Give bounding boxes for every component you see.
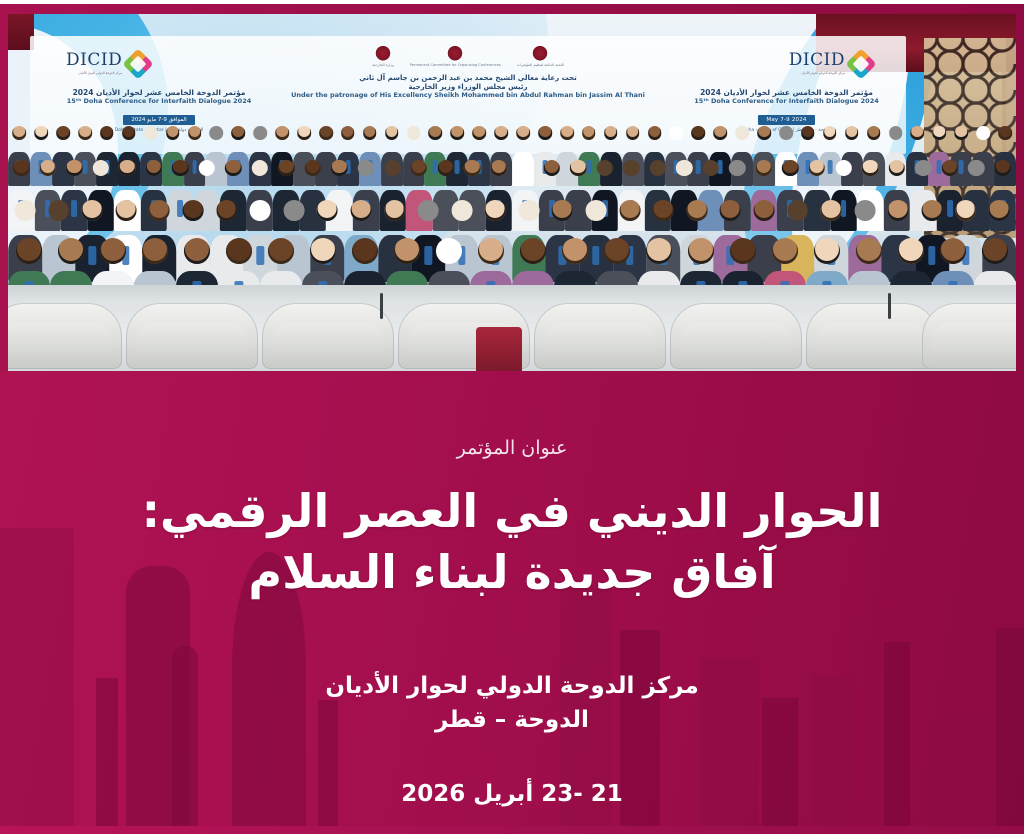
attendee-head xyxy=(232,126,246,140)
sofa xyxy=(922,303,1016,369)
attendee-head xyxy=(411,160,427,176)
attendee-head xyxy=(305,160,321,176)
attendee-head xyxy=(122,126,136,140)
banner-patronage-block: اللجنة الدائمة لتنظيم المؤتمرات Permanen… xyxy=(268,46,668,99)
attendee-head xyxy=(989,200,1010,221)
attendee-head xyxy=(451,126,465,140)
microphone-stand-icon xyxy=(380,293,383,319)
attendee-head xyxy=(16,238,42,264)
attendee-head xyxy=(692,126,706,140)
attendee-head xyxy=(394,238,420,264)
attendee-head xyxy=(464,160,480,176)
dicid-logo-left: DICID مركز الدوحة الدولي لحوار الأديان xyxy=(66,52,149,75)
attendee-head xyxy=(898,238,924,264)
attendee-head xyxy=(34,126,48,140)
attendee-head xyxy=(821,200,842,221)
attendee-head xyxy=(341,126,355,140)
attendee-head xyxy=(253,126,267,140)
attendee-head xyxy=(955,200,976,221)
dicid-diamond-icon xyxy=(123,48,154,79)
conference-poster: DICID مركز الدوحة الدولي لحوار الأديان D… xyxy=(0,0,1024,834)
attendee-head xyxy=(703,160,719,176)
attendee-head xyxy=(720,200,741,221)
banner-date-pill-left: الموافق 9-7 مايو 2024 xyxy=(123,115,194,126)
ministry-logo-row: اللجنة الدائمة لتنظيم المؤتمرات Permanen… xyxy=(268,46,668,68)
attendee-head xyxy=(384,160,400,176)
attendee-head xyxy=(250,200,271,221)
organizer-name: مركز الدوحة الدولي لحوار الأديان xyxy=(325,670,698,703)
mofa-logo: وزارة الخارجية xyxy=(372,46,394,68)
attendee-head xyxy=(814,238,840,264)
attendee-head xyxy=(275,126,289,140)
attendee-head xyxy=(166,126,180,140)
dicid-logo-right: DICID مركز الدوحة الدولي لحوار الأديان xyxy=(789,52,872,75)
microphone-stand-icon xyxy=(888,293,891,319)
attendee-head xyxy=(39,160,55,176)
attendee-head xyxy=(560,126,574,140)
attendee-head xyxy=(358,160,374,176)
dicid-wordmark-left: DICID xyxy=(66,52,122,69)
permanent-committee-logo: اللجنة الدائمة لتنظيم المؤتمرات xyxy=(517,46,564,68)
banner-date-pill-right: May 7-9 2024 xyxy=(758,115,814,126)
attendee-head xyxy=(552,200,573,221)
attendee-head xyxy=(283,200,304,221)
attendee-head xyxy=(115,200,136,221)
committee-label-en: Permanent Committee for Organizing Confe… xyxy=(410,63,501,67)
attendee-head xyxy=(862,160,878,176)
attendee-head xyxy=(351,200,372,221)
attendee-head xyxy=(976,126,990,140)
attendee-head xyxy=(713,126,727,140)
attendee-head xyxy=(184,238,210,264)
attendee-head xyxy=(688,238,714,264)
poster-text-block: عنوان المؤتمر الحوار الديني في العصر الر… xyxy=(0,371,1024,834)
attendee-head xyxy=(384,200,405,221)
banner-title-ar-right: مؤتمر الدوحة الخامس عشر لحوار الأديان 20… xyxy=(679,88,894,97)
sofa xyxy=(806,303,938,369)
organizer-location: الدوحة – قطر xyxy=(325,704,698,737)
attendee-head xyxy=(82,200,103,221)
attendee-head xyxy=(995,160,1011,176)
attendee-head xyxy=(119,160,135,176)
attendee-head xyxy=(149,200,170,221)
attendee-head xyxy=(385,126,399,140)
qatar-emblem-icon xyxy=(447,46,463,62)
attendee-head xyxy=(998,126,1012,140)
attendee-head xyxy=(516,126,530,140)
attendee-head xyxy=(619,200,640,221)
attendee-head xyxy=(626,126,640,140)
attendee-head xyxy=(13,160,29,176)
attendee-head xyxy=(58,238,84,264)
banner-title-en-left: 15ᵗʰ Doha Conference for Interfaith Dial… xyxy=(44,97,274,105)
attendee-head xyxy=(100,238,126,264)
attendee-head xyxy=(252,160,268,176)
sofa xyxy=(8,303,122,369)
attendee-crowd xyxy=(8,126,1016,296)
attendee-head xyxy=(888,200,909,221)
attendee-head xyxy=(473,126,487,140)
sofa xyxy=(126,303,258,369)
attendee-head xyxy=(188,126,202,140)
attendee-head xyxy=(586,200,607,221)
attendee-head xyxy=(331,160,347,176)
attendee-head xyxy=(562,238,588,264)
attendee-head xyxy=(451,200,472,221)
attendee-head xyxy=(100,126,114,140)
attendee-head xyxy=(142,238,168,264)
attendee-head xyxy=(646,238,672,264)
banner-title-en-right: 15ᵗʰ Doha Conference for Interfaith Dial… xyxy=(679,97,894,105)
attendee-head xyxy=(226,238,252,264)
conference-title-line-2: آفاق جديدة لبناء السلام xyxy=(142,542,883,603)
attendee-head xyxy=(570,160,586,176)
attendee-head xyxy=(729,160,745,176)
attendee-head xyxy=(604,238,630,264)
attendee-head xyxy=(485,200,506,221)
mofa-crest-icon xyxy=(375,46,391,62)
attendee-head xyxy=(670,126,684,140)
attendee-head xyxy=(520,238,546,264)
front-sofa-row xyxy=(8,285,1016,371)
attendee-head xyxy=(310,238,336,264)
attendee-head xyxy=(582,126,596,140)
attendee-head xyxy=(48,200,69,221)
patron-line-1: تحت رعاية معالي الشيخ محمد بن عبد الرحمن… xyxy=(268,74,668,83)
organizer-block: مركز الدوحة الدولي لحوار الأديان الدوحة … xyxy=(325,670,698,737)
attendee-head xyxy=(915,160,931,176)
attendee-head xyxy=(210,126,224,140)
attendee-head xyxy=(225,160,241,176)
attendee-head xyxy=(352,238,378,264)
dicid-diamond-icon-right xyxy=(845,48,876,79)
red-carpet-cloth xyxy=(476,327,522,371)
attendee-head xyxy=(429,126,443,140)
attendee-head xyxy=(648,126,662,140)
attendee-head xyxy=(494,126,508,140)
committee-label-ar: اللجنة الدائمة لتنظيم المؤتمرات xyxy=(517,63,564,67)
attendee-head xyxy=(735,126,749,140)
qatar-emblem-logo: Permanent Committee for Organizing Confe… xyxy=(410,46,501,68)
attendee-head xyxy=(757,126,771,140)
patron-line-en: Under the patronage of His Excellency Sh… xyxy=(268,91,668,99)
banner-title-ar-left: مؤتمر الدوحة الخامس عشر لحوار الأديان 20… xyxy=(44,88,274,97)
conference-dates: 21 -23 أبريل 2026 xyxy=(401,781,623,807)
attendee-head xyxy=(686,200,707,221)
conference-title-line-1: الحوار الديني في العصر الرقمي: xyxy=(142,481,883,542)
attendee-head xyxy=(922,200,943,221)
attendee-head xyxy=(782,160,798,176)
attendee-head xyxy=(856,238,882,264)
attendee-head xyxy=(543,160,559,176)
conference-title-kicker: عنوان المؤتمر xyxy=(457,437,568,459)
attendee-head xyxy=(12,126,26,140)
attendee-head xyxy=(418,200,439,221)
attendee-head xyxy=(216,200,237,221)
attendee-head xyxy=(490,160,506,176)
committee-crest-icon xyxy=(532,46,548,62)
attendee-head xyxy=(772,238,798,264)
attendee-head xyxy=(478,238,504,264)
attendee-head xyxy=(597,160,613,176)
attendee-head xyxy=(436,238,462,264)
conference-group-photo: DICID مركز الدوحة الدولي لحوار الأديان D… xyxy=(8,14,1016,371)
attendee-head xyxy=(888,160,904,176)
sofa xyxy=(534,303,666,369)
attendee-head xyxy=(867,126,881,140)
attendee-head xyxy=(437,160,453,176)
attendee-head xyxy=(940,238,966,264)
attendee-head xyxy=(92,160,108,176)
attendee-head xyxy=(854,200,875,221)
attendee-head xyxy=(278,160,294,176)
dicid-logo-subtitle-right: مركز الدوحة الدولي لحوار الأديان xyxy=(789,71,845,75)
sofa xyxy=(262,303,394,369)
attendee-head xyxy=(779,126,793,140)
attendee-head xyxy=(787,200,808,221)
attendee-head xyxy=(968,160,984,176)
attendee-head xyxy=(518,200,539,221)
attendee-head xyxy=(823,126,837,140)
attendee-head xyxy=(941,160,957,176)
attendee-head xyxy=(319,126,333,140)
attendee-head xyxy=(809,160,825,176)
conference-title: الحوار الديني في العصر الرقمي: آفاق جديد… xyxy=(142,481,883,602)
attendee-head xyxy=(78,126,92,140)
attendee-head xyxy=(835,160,851,176)
attendee-head xyxy=(317,200,338,221)
attendee-head xyxy=(363,126,377,140)
attendee-head xyxy=(183,200,204,221)
attendee-head xyxy=(623,160,639,176)
attendee-head xyxy=(754,200,775,221)
attendee-head xyxy=(889,126,903,140)
attendee-head xyxy=(756,160,772,176)
attendee-head xyxy=(538,126,552,140)
dicid-wordmark-right: DICID xyxy=(789,52,845,69)
dicid-logo-subtitle-left: مركز الدوحة الدولي لحوار الأديان xyxy=(66,71,122,75)
attendee-head xyxy=(297,126,311,140)
attendee-head xyxy=(172,160,188,176)
attendee-head xyxy=(653,200,674,221)
attendee-head xyxy=(801,126,815,140)
attendee-head xyxy=(730,238,756,264)
attendee-head xyxy=(604,126,618,140)
attendee-head xyxy=(517,160,533,176)
top-white-edge xyxy=(0,0,1024,4)
attendee-head xyxy=(407,126,421,140)
attendee-head xyxy=(15,200,36,221)
attendee-head xyxy=(144,126,158,140)
attendee-head xyxy=(933,126,947,140)
patron-line-2: رئيس مجلس الوزراء وزير الخارجية xyxy=(268,83,668,92)
attendee-head xyxy=(982,238,1008,264)
attendee-head xyxy=(954,126,968,140)
attendee-head xyxy=(146,160,162,176)
attendee-head xyxy=(845,126,859,140)
attendee-head xyxy=(911,126,925,140)
attendee-head xyxy=(199,160,215,176)
sofa xyxy=(670,303,802,369)
attendee-head xyxy=(268,238,294,264)
mofa-label-ar: وزارة الخارجية xyxy=(372,63,394,67)
attendee-head xyxy=(66,160,82,176)
attendee-head xyxy=(56,126,70,140)
attendee-head xyxy=(676,160,692,176)
attendee-head xyxy=(650,160,666,176)
